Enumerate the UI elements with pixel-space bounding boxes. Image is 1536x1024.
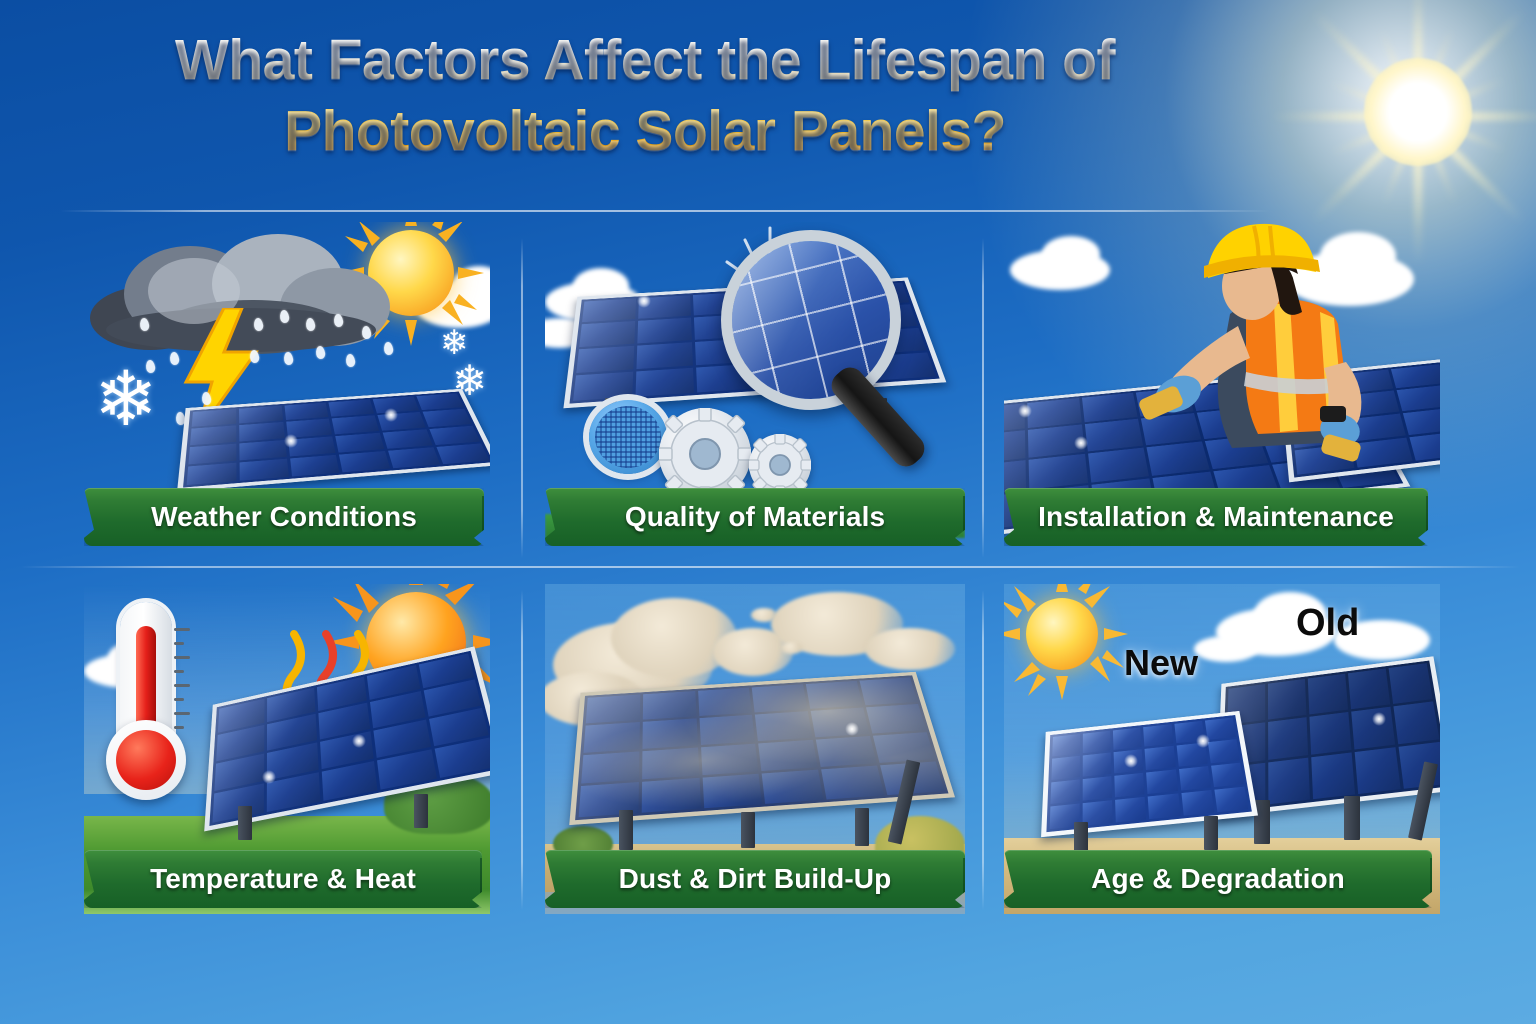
dust-cloud-icon [751, 608, 777, 622]
panel-label-installation-and-maintenance[interactable]: Installation & Maintenance [1004, 488, 1428, 546]
panel-label-text: Dust & Dirt Build-Up [619, 863, 892, 895]
gear-icon [749, 434, 811, 496]
snowflake-icon: ❄ [440, 326, 469, 360]
panel-label-text: Temperature & Heat [150, 863, 416, 895]
title-line-2: Photovoltaic Solar Panels? [0, 103, 1290, 160]
dust-cloud-icon [611, 598, 737, 678]
label-old: Old [1296, 602, 1359, 645]
panel-installation-and-maintenance[interactable]: Installation & Maintenance [1004, 222, 1440, 552]
panel-label-dust-and-dirt-build-up[interactable]: Dust & Dirt Build-Up [545, 850, 965, 908]
sun-icon [1026, 598, 1098, 670]
panel-grid: ❄ ❄ ❄ ❄ [0, 212, 1536, 1012]
panel-label-weather-conditions[interactable]: Weather Conditions [84, 488, 484, 546]
panel-weather-conditions[interactable]: ❄ ❄ ❄ ❄ [84, 222, 490, 552]
panel-label-text: Weather Conditions [151, 501, 417, 533]
panel-label-temperature-and-heat[interactable]: Temperature & Heat [84, 850, 482, 908]
worker-icon [1134, 222, 1424, 492]
banner-tab-right [963, 858, 972, 898]
panel-label-quality-of-materials[interactable]: Quality of Materials [545, 488, 965, 546]
gear-icon [659, 408, 751, 500]
panel-quality-of-materials[interactable]: Quality of Materials [545, 222, 965, 552]
magnifying-glass-icon [721, 230, 901, 410]
panel-label-age-and-degradation[interactable]: Age & Degradation [1004, 850, 1432, 908]
thermometer-icon [102, 602, 198, 812]
panel-age-and-degradation[interactable]: New Old Age & Degradation [1004, 584, 1440, 914]
dust-cloud-icon [781, 642, 803, 654]
title-line-1: What Factors Affect the Lifespan of [0, 28, 1290, 97]
solar-cell-sample-icon [589, 400, 667, 474]
dust-cloud-icon [865, 628, 955, 670]
cloud-icon [1042, 236, 1100, 272]
page-title: What Factors Affect the Lifespan of Phot… [0, 28, 1290, 160]
cloud-icon [1194, 636, 1258, 662]
new-solar-panel-icon [1041, 711, 1258, 837]
infographic-canvas: What Factors Affect the Lifespan of Phot… [0, 0, 1536, 1024]
banner-tab-right [963, 496, 972, 536]
rain-drop-icon [345, 353, 356, 367]
panel-temperature-and-heat[interactable]: Temperature & Heat [84, 584, 490, 914]
panel-label-text: Age & Degradation [1091, 863, 1345, 895]
panel-label-text: Quality of Materials [625, 501, 885, 533]
label-new: New [1124, 642, 1198, 684]
snowflake-icon: ❄ [94, 362, 158, 438]
panel-label-text: Installation & Maintenance [1038, 501, 1394, 533]
panel-dust-and-dirt-build-up[interactable]: Dust & Dirt Build-Up [545, 584, 965, 914]
